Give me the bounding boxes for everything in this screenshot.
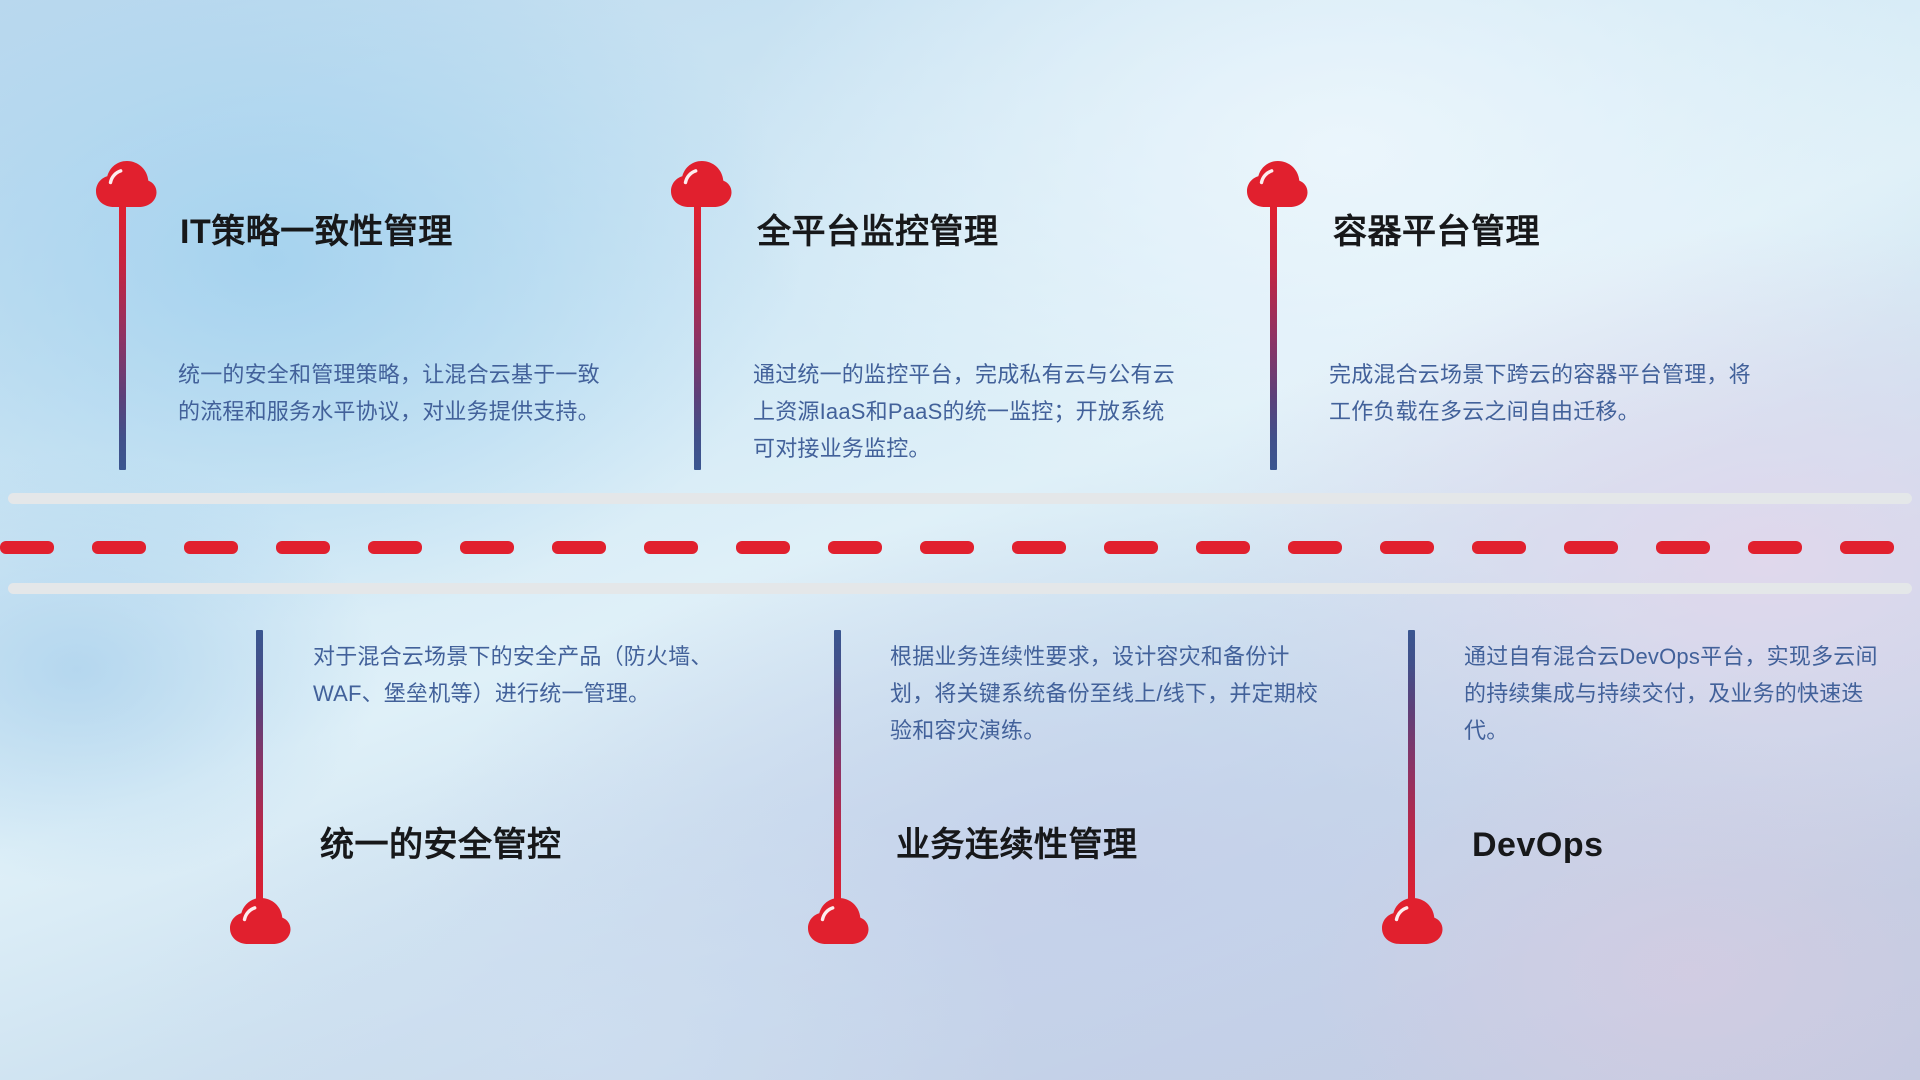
divider-dash (184, 541, 238, 554)
card-heading: 容器平台管理 (1333, 212, 1540, 253)
cloud-icon (228, 895, 292, 945)
connector-stem (1408, 630, 1415, 910)
divider-dash (644, 541, 698, 554)
divider-dash (276, 541, 330, 554)
divider-dash (1012, 541, 1066, 554)
card-body-text: 统一的安全和管理策略，让混合云基于一致的流程和服务水平协议，对业务提供支持。 (178, 356, 600, 430)
divider-rail-top (8, 493, 1912, 504)
card-heading: 统一的安全管控 (320, 825, 562, 866)
card-body: 统一的安全和管理策略，让混合云基于一致的流程和服务水平协议，对业务提供支持。 (178, 356, 600, 430)
divider-dash (1748, 541, 1802, 554)
divider-dash (368, 541, 422, 554)
divider-dash (828, 541, 882, 554)
divider-dash (1472, 541, 1526, 554)
divider-dash (1564, 541, 1618, 554)
cloud-icon (669, 158, 733, 208)
card-heading: 全平台监控管理 (757, 212, 999, 253)
card-body-text: 根据业务连续性要求，设计容灾和备份计划，将关键系统备份至线上/线下，并定期校验和… (890, 638, 1320, 749)
divider-dash (736, 541, 790, 554)
divider-dash (1288, 541, 1342, 554)
card-body-text: 通过自有混合云DevOps平台，实现多云间的持续集成与持续交付，及业务的快速迭代… (1464, 638, 1886, 749)
card-heading: 业务连续性管理 (896, 825, 1138, 866)
divider-dash (552, 541, 606, 554)
cloud-icon (806, 895, 870, 945)
card-heading: IT策略一致性管理 (180, 212, 453, 253)
divider-dash (1104, 541, 1158, 554)
divider-dash (0, 541, 54, 554)
connector-stem (1270, 205, 1277, 470)
card-body: 通过统一的监控平台，完成私有云与公有云上资源IaaS和PaaS的统一监控；开放系… (753, 356, 1183, 467)
card-body: 对于混合云场景下的安全产品（防火墙、WAF、堡垒机等）进行统一管理。 (313, 638, 735, 712)
card-body-text: 完成混合云场景下跨云的容器平台管理，将工作负载在多云之间自由迁移。 (1329, 356, 1751, 430)
divider-rail-bottom (8, 583, 1912, 594)
cloud-icon (1380, 895, 1444, 945)
connector-stem (256, 630, 263, 910)
divider-dash (1380, 541, 1434, 554)
divider-dash (460, 541, 514, 554)
card-body: 完成混合云场景下跨云的容器平台管理，将工作负载在多云之间自由迁移。 (1329, 356, 1751, 430)
divider-dashed-line (0, 541, 1920, 554)
divider-dash (1196, 541, 1250, 554)
card-body: 根据业务连续性要求，设计容灾和备份计划，将关键系统备份至线上/线下，并定期校验和… (890, 638, 1320, 749)
card-body-text: 通过统一的监控平台，完成私有云与公有云上资源IaaS和PaaS的统一监控；开放系… (753, 356, 1183, 467)
divider-dash (1840, 541, 1894, 554)
cloud-icon (94, 158, 158, 208)
card-body: 通过自有混合云DevOps平台，实现多云间的持续集成与持续交付，及业务的快速迭代… (1464, 638, 1886, 749)
divider-dash (920, 541, 974, 554)
connector-stem (834, 630, 841, 910)
card-heading: DevOps (1472, 825, 1604, 866)
divider-dash (1656, 541, 1710, 554)
connector-stem (119, 205, 126, 470)
card-body-text: 对于混合云场景下的安全产品（防火墙、WAF、堡垒机等）进行统一管理。 (313, 638, 735, 712)
cloud-icon (1245, 158, 1309, 208)
divider-dash (92, 541, 146, 554)
connector-stem (694, 205, 701, 470)
